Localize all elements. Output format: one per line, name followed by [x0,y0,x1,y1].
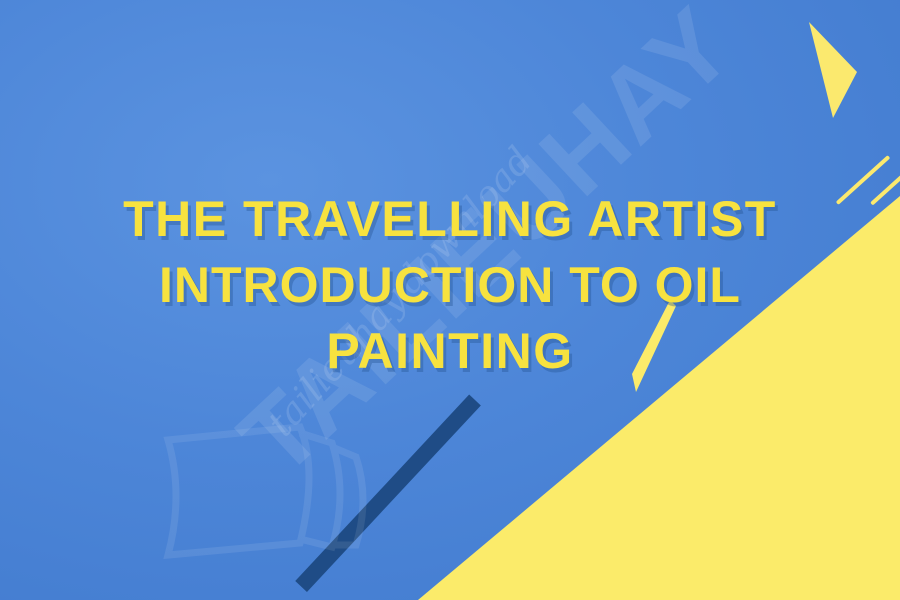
presentation-slide: TAILIEUHAY tailieuhay.download THE TRAVE… [0,0,900,600]
slide-background [0,0,900,600]
